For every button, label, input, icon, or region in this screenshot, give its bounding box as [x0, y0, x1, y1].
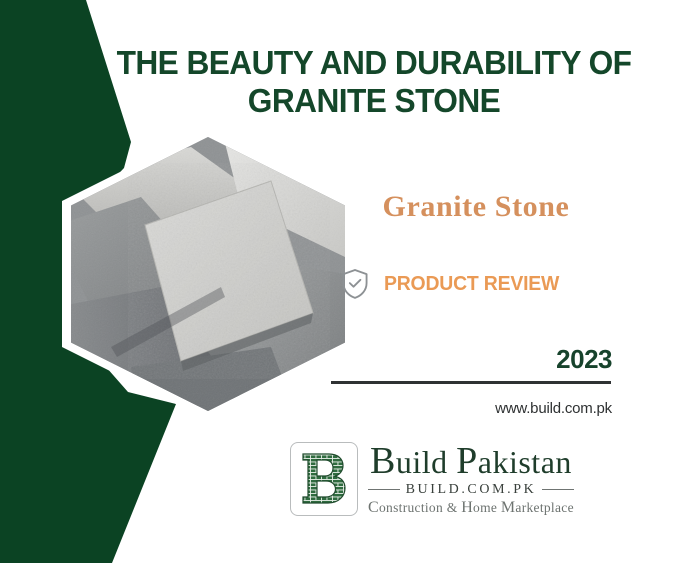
- poster-canvas: The Beauty and Durability of Granite Sto…: [0, 0, 688, 563]
- product-name: Granite Stone: [340, 190, 612, 224]
- logo-domain: BUILD.COM.PK: [406, 482, 537, 498]
- page-title: The Beauty and Durability of Granite Sto…: [115, 44, 633, 121]
- logo-title-cap-b: B: [370, 440, 396, 482]
- logo-tagline-h: H: [461, 499, 473, 516]
- logo-domain-row: BUILD.COM.PK: [368, 482, 574, 498]
- logo-text-block: Build Pakistan BUILD.COM.PK Construction…: [368, 442, 574, 517]
- logo-rule-right: [542, 489, 574, 490]
- logo-tagline-home: ome: [473, 500, 501, 515]
- logo-rule-left: [368, 489, 400, 490]
- logo-tagline: Construction & Home Marketplace: [368, 499, 574, 517]
- hexagon-image-frame: [62, 128, 354, 420]
- shield-check-icon: [340, 268, 370, 300]
- logo-title-pakistan: akistan: [478, 444, 572, 480]
- horizontal-divider: [331, 381, 611, 384]
- logo-tagline-c: C: [368, 499, 379, 516]
- year-label: 2023: [330, 344, 612, 375]
- product-review-row: Product Review: [340, 268, 565, 300]
- website-url: www.build.com.pk: [330, 400, 612, 417]
- logo-title: Build Pakistan: [370, 442, 572, 481]
- logo-title-cap-p: P: [456, 440, 478, 482]
- build-pakistan-logo[interactable]: Build Pakistan BUILD.COM.PK Construction…: [290, 442, 574, 517]
- logo-tagline-rest: onstruction &: [379, 500, 461, 515]
- logo-title-build: uild: [396, 444, 448, 480]
- logo-brick-b-icon: [290, 442, 358, 516]
- logo-tagline-market: arketplace: [515, 500, 573, 515]
- product-review-label: Product Review: [384, 273, 559, 296]
- logo-tagline-m: M: [501, 499, 516, 516]
